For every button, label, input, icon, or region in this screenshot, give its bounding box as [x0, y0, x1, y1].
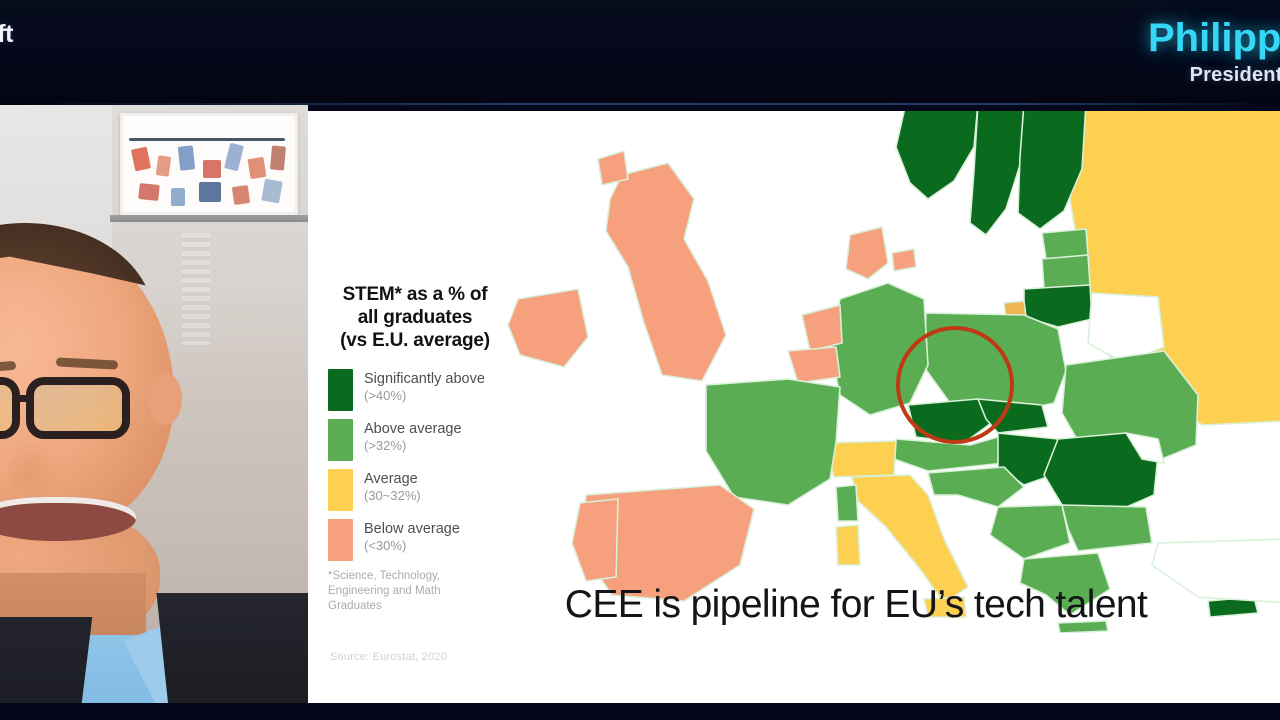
legend-swatch-above-average	[328, 419, 353, 461]
legend-label: Significantly above	[364, 370, 485, 388]
region-ireland	[508, 289, 588, 367]
legend-label: Average	[364, 470, 421, 488]
region-croatia	[928, 467, 1024, 507]
legend-title-line-1: STEM* as a % of	[320, 283, 510, 306]
region-denmark	[846, 227, 888, 279]
framed-artwork	[120, 113, 298, 215]
presenter-nose	[8, 441, 62, 499]
region-netherlands	[802, 305, 842, 351]
region-bulgaria	[1062, 505, 1152, 551]
legend-swatch-below-average	[328, 519, 353, 561]
region-france	[706, 379, 840, 505]
region-denmark-islands	[892, 249, 916, 271]
legend-item: Average (30~32%)	[328, 469, 510, 511]
region-belgium	[788, 347, 840, 383]
slide-caption: CEE is pipeline for EU’s tech talent	[308, 583, 1280, 627]
eyeglasses	[0, 377, 150, 443]
legend-swatch-significantly-above	[328, 369, 353, 411]
wall-shelf	[110, 215, 308, 222]
legend-item: Significantly above (>40%)	[328, 369, 510, 411]
suit-lapel-left	[0, 617, 92, 703]
broadcast-banner: osoft Philippe Ro President, Micr	[0, 0, 1280, 105]
region-norway	[896, 111, 978, 199]
source-citation: Source: Eurostat, 2020	[330, 651, 447, 663]
legend-items: Significantly above (>40%) Above average…	[320, 369, 510, 561]
speaker-role: President, Micr	[1190, 64, 1280, 87]
region-estonia	[1042, 229, 1088, 259]
legend-title: STEM* as a % of all graduates (vs E.U. a…	[320, 283, 510, 353]
legend-range: (>32%)	[364, 438, 462, 455]
legend-range: (>40%)	[364, 388, 485, 405]
legend-item: Below average (<30%)	[328, 519, 510, 561]
legend-label: Above average	[364, 420, 462, 438]
eyeglass-lens-right	[26, 377, 130, 439]
webinar-screen: osoft Philippe Ro President, Micr	[0, 0, 1280, 720]
eyeglass-lens-left	[0, 377, 20, 439]
suit-lapel-right	[156, 593, 308, 703]
region-portugal	[572, 499, 618, 581]
legend-title-line-3: (vs E.U. average)	[320, 329, 510, 352]
legend-title-line-2: all graduates	[320, 306, 510, 329]
window-blind	[182, 233, 210, 345]
region-corsica	[836, 485, 858, 521]
legend-item: Above average (>32%)	[328, 419, 510, 461]
map-legend: STEM* as a % of all graduates (vs E.U. a…	[320, 283, 510, 569]
region-sardinia	[836, 525, 860, 565]
romania-highlight-circle	[896, 326, 1014, 444]
presentation-slide[interactable]: STEM* as a % of all graduates (vs E.U. a…	[308, 111, 1280, 703]
region-great-britain	[606, 163, 726, 381]
region-latvia	[1042, 255, 1090, 289]
region-sweden	[970, 111, 1024, 235]
presenter-ear	[148, 373, 182, 425]
organization-label: osoft	[0, 20, 13, 49]
region-scotland-isles	[598, 151, 628, 185]
legend-range: (<30%)	[364, 538, 460, 555]
speaker-name: Philippe Ro	[1148, 16, 1280, 61]
legend-label: Below average	[364, 520, 460, 538]
legend-range: (30~32%)	[364, 488, 421, 505]
footnote-line-1: *Science, Technology,	[328, 569, 478, 584]
legend-swatch-average	[328, 469, 353, 511]
region-serbia	[990, 505, 1070, 559]
presenter-video-feed[interactable]	[0, 105, 308, 703]
map-svg	[458, 111, 1280, 633]
